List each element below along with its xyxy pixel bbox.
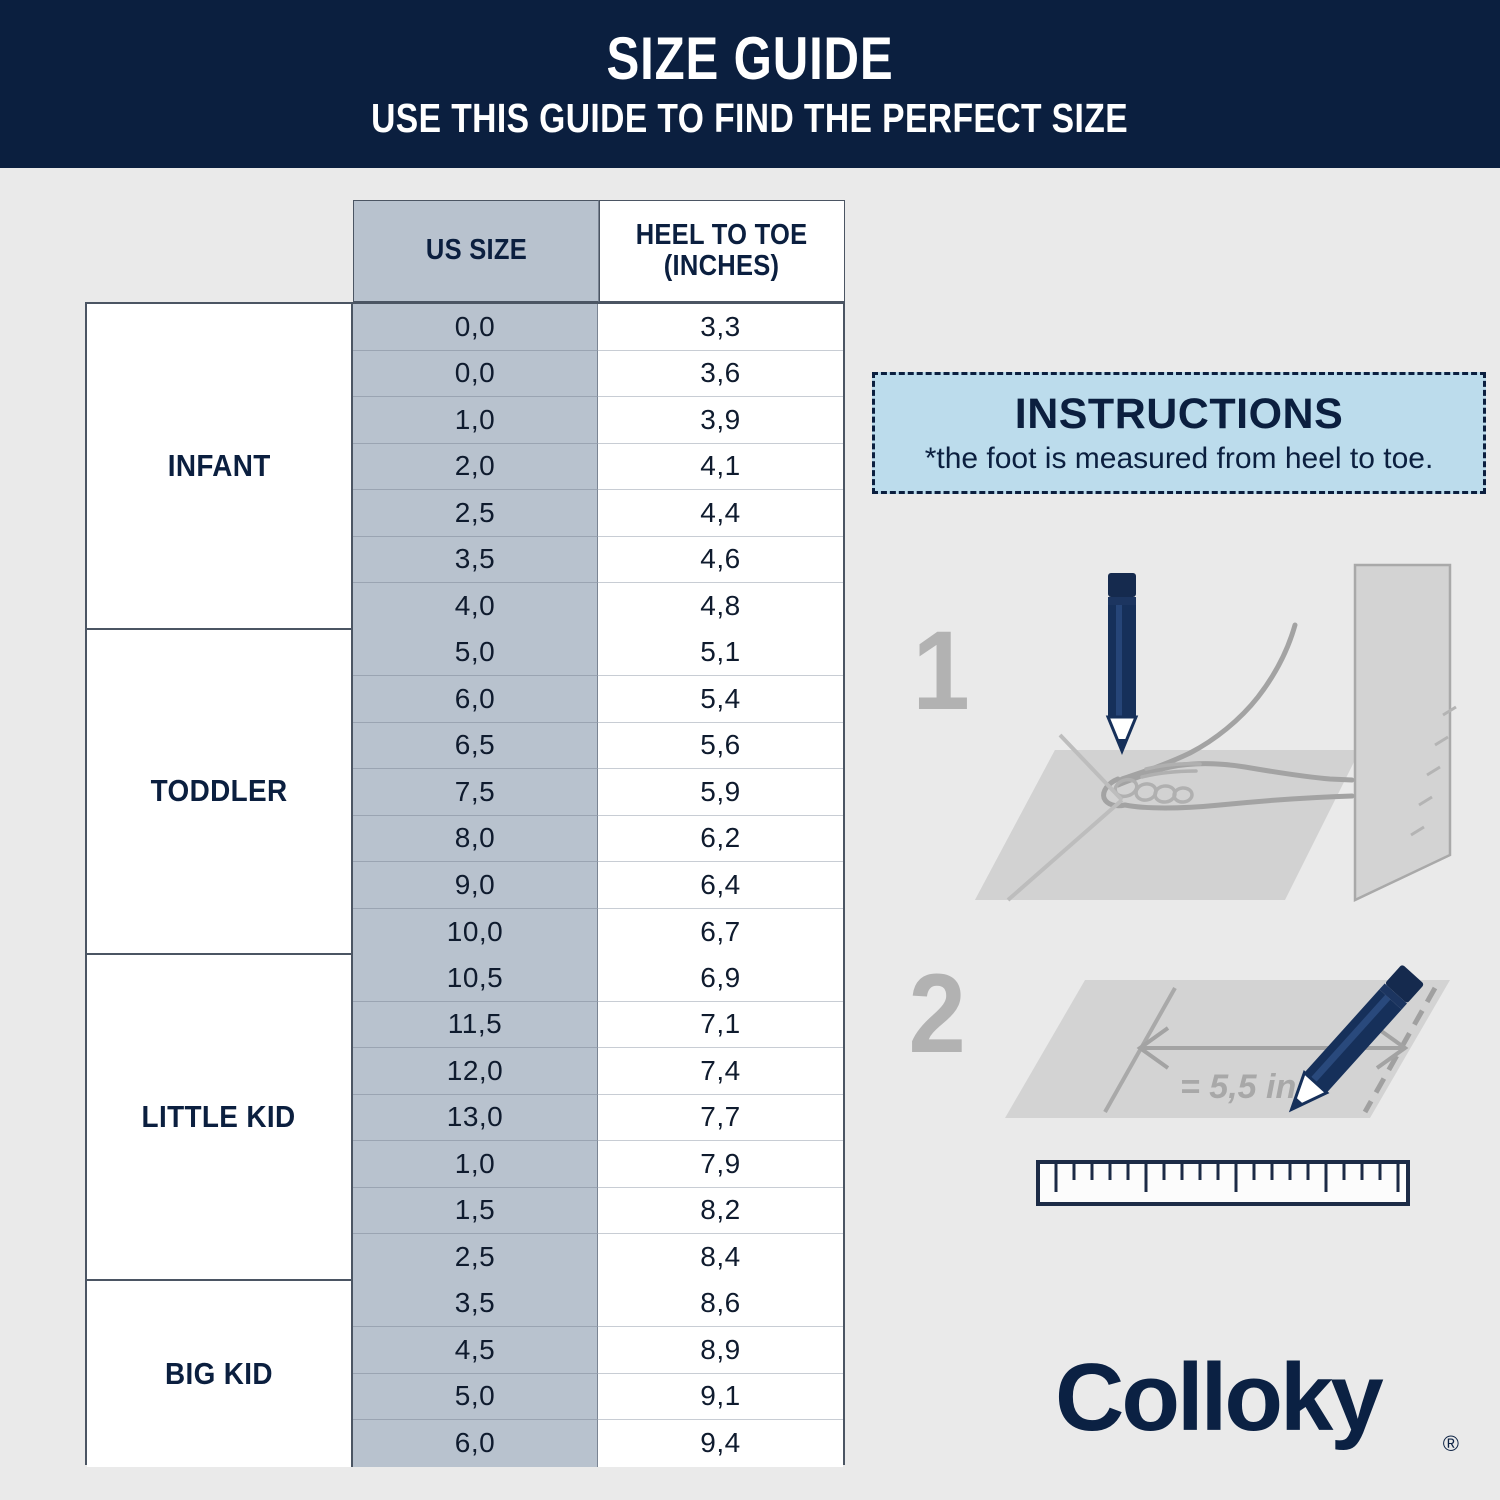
cell-heel-to-toe: 7,4 bbox=[598, 1048, 843, 1095]
cell-heel-to-toe: 5,1 bbox=[598, 630, 843, 677]
group-label-text: TODDLER bbox=[151, 773, 288, 809]
brand-logo: Colloky ® bbox=[1055, 1345, 1455, 1465]
table-group: INFANT0,03,30,03,61,03,92,04,12,54,43,54… bbox=[87, 304, 843, 630]
brand-logo-text: Colloky bbox=[1055, 1345, 1381, 1451]
wall-plane-icon bbox=[1355, 565, 1450, 900]
table-row: 10,56,9 bbox=[353, 955, 843, 1002]
ruler-icon bbox=[1038, 1162, 1408, 1204]
table-row: 4,58,9 bbox=[353, 1327, 843, 1374]
cell-us-size: 0,0 bbox=[353, 304, 598, 351]
group-label-text: LITTLE KID bbox=[142, 1099, 296, 1135]
registered-trademark-icon: ® bbox=[1443, 1433, 1459, 1455]
cell-heel-to-toe: 4,8 bbox=[598, 583, 843, 630]
cell-us-size: 5,0 bbox=[353, 630, 598, 677]
instructions-title: INSTRUCTIONS bbox=[1015, 393, 1344, 436]
cell-heel-to-toe: 3,3 bbox=[598, 304, 843, 351]
cell-us-size: 5,0 bbox=[353, 1374, 598, 1421]
group-label-little-kid: LITTLE KID bbox=[87, 955, 353, 1279]
cell-us-size: 4,5 bbox=[353, 1327, 598, 1374]
column-header-heel-line2: (INCHES) bbox=[664, 250, 780, 282]
instructions-note: *the foot is measured from heel to toe. bbox=[925, 444, 1434, 474]
cell-heel-to-toe: 7,1 bbox=[598, 1002, 843, 1049]
page-header: SIZE GUIDE USE THIS GUIDE TO FIND THE PE… bbox=[0, 0, 1500, 168]
cell-us-size: 11,5 bbox=[353, 1002, 598, 1049]
group-label-infant: INFANT bbox=[87, 304, 353, 628]
table-row: 13,07,7 bbox=[353, 1095, 843, 1142]
page-title: SIZE GUIDE bbox=[606, 28, 893, 89]
table-row: 12,07,4 bbox=[353, 1048, 843, 1095]
group-rows: 10,56,911,57,112,07,413,07,71,07,91,58,2… bbox=[353, 955, 843, 1279]
table-row: 3,54,6 bbox=[353, 537, 843, 584]
column-header-heel-to-toe: HEEL TO TOE (INCHES) bbox=[599, 200, 845, 302]
size-guide-page: SIZE GUIDE USE THIS GUIDE TO FIND THE PE… bbox=[0, 0, 1500, 1500]
cell-heel-to-toe: 6,4 bbox=[598, 862, 843, 909]
size-table: US SIZE HEEL TO TOE (INCHES) INFANT0,03,… bbox=[85, 200, 845, 1465]
table-row: 9,06,4 bbox=[353, 862, 843, 909]
page-subtitle: USE THIS GUIDE TO FIND THE PERFECT SIZE bbox=[372, 97, 1129, 140]
step-2-number: 2 bbox=[908, 958, 965, 1070]
column-header-heel-line1: HEEL TO TOE bbox=[636, 219, 808, 251]
step-2-illustration: 2 = 5,5 in bbox=[890, 940, 1490, 1240]
step-2-drawing: = 5,5 in bbox=[890, 940, 1490, 1240]
table-row: 2,58,4 bbox=[353, 1234, 843, 1281]
cell-us-size: 9,0 bbox=[353, 862, 598, 909]
measurement-label: = 5,5 in bbox=[1180, 1068, 1296, 1106]
group-rows: 3,58,64,58,95,09,16,09,4 bbox=[353, 1281, 843, 1467]
instructions-box: INSTRUCTIONS *the foot is measured from … bbox=[872, 372, 1486, 494]
cell-us-size: 7,5 bbox=[353, 769, 598, 816]
group-label-text: BIG KID bbox=[165, 1356, 273, 1392]
cell-us-size: 2,0 bbox=[353, 444, 598, 491]
table-row: 2,54,4 bbox=[353, 490, 843, 537]
table-row: 0,03,6 bbox=[353, 351, 843, 398]
table-group: LITTLE KID10,56,911,57,112,07,413,07,71,… bbox=[87, 955, 843, 1281]
cell-heel-to-toe: 5,4 bbox=[598, 676, 843, 723]
table-row: 6,09,4 bbox=[353, 1420, 843, 1467]
cell-us-size: 6,5 bbox=[353, 723, 598, 770]
cell-us-size: 1,5 bbox=[353, 1188, 598, 1235]
cell-heel-to-toe: 6,9 bbox=[598, 955, 843, 1002]
cell-us-size: 6,0 bbox=[353, 676, 598, 723]
cell-us-size: 8,0 bbox=[353, 816, 598, 863]
cell-heel-to-toe: 4,1 bbox=[598, 444, 843, 491]
pencil-icon bbox=[1108, 573, 1136, 751]
cell-heel-to-toe: 6,2 bbox=[598, 816, 843, 863]
cell-heel-to-toe: 9,1 bbox=[598, 1374, 843, 1421]
cell-heel-to-toe: 3,6 bbox=[598, 351, 843, 398]
group-label-text: INFANT bbox=[168, 448, 271, 484]
cell-us-size: 1,0 bbox=[353, 1141, 598, 1188]
cell-us-size: 10,0 bbox=[353, 909, 598, 956]
table-row: 1,07,9 bbox=[353, 1141, 843, 1188]
cell-us-size: 10,5 bbox=[353, 955, 598, 1002]
cell-us-size: 4,0 bbox=[353, 583, 598, 630]
table-row: 5,05,1 bbox=[353, 630, 843, 677]
table-row: 1,03,9 bbox=[353, 397, 843, 444]
step-1-drawing bbox=[890, 555, 1490, 915]
table-row: 0,03,3 bbox=[353, 304, 843, 351]
cell-heel-to-toe: 8,9 bbox=[598, 1327, 843, 1374]
table-group: TODDLER5,05,16,05,46,55,67,55,98,06,29,0… bbox=[87, 630, 843, 956]
step-1-illustration: 1 bbox=[890, 555, 1490, 915]
table-row: 2,04,1 bbox=[353, 444, 843, 491]
cell-us-size: 13,0 bbox=[353, 1095, 598, 1142]
group-label-toddler: TODDLER bbox=[87, 630, 353, 954]
cell-us-size: 6,0 bbox=[353, 1420, 598, 1467]
group-rows: 5,05,16,05,46,55,67,55,98,06,29,06,410,0… bbox=[353, 630, 843, 954]
cell-us-size: 3,5 bbox=[353, 1281, 598, 1328]
column-header-us-size: US SIZE bbox=[353, 200, 599, 302]
step-1-number: 1 bbox=[912, 615, 969, 727]
cell-heel-to-toe: 7,7 bbox=[598, 1095, 843, 1142]
cell-us-size: 1,0 bbox=[353, 397, 598, 444]
cell-heel-to-toe: 5,6 bbox=[598, 723, 843, 770]
cell-heel-to-toe: 8,6 bbox=[598, 1281, 843, 1328]
table-group: BIG KID3,58,64,58,95,09,16,09,4 bbox=[87, 1281, 843, 1467]
cell-us-size: 3,5 bbox=[353, 537, 598, 584]
table-row: 6,55,6 bbox=[353, 723, 843, 770]
cell-heel-to-toe: 6,7 bbox=[598, 909, 843, 956]
table-row: 5,09,1 bbox=[353, 1374, 843, 1421]
cell-us-size: 12,0 bbox=[353, 1048, 598, 1095]
cell-heel-to-toe: 4,6 bbox=[598, 537, 843, 584]
cell-us-size: 0,0 bbox=[353, 351, 598, 398]
cell-heel-to-toe: 8,2 bbox=[598, 1188, 843, 1235]
cell-heel-to-toe: 9,4 bbox=[598, 1420, 843, 1467]
table-row: 8,06,2 bbox=[353, 816, 843, 863]
cell-heel-to-toe: 7,9 bbox=[598, 1141, 843, 1188]
cell-us-size: 2,5 bbox=[353, 490, 598, 537]
table-row: 10,06,7 bbox=[353, 909, 843, 956]
cell-heel-to-toe: 3,9 bbox=[598, 397, 843, 444]
group-rows: 0,03,30,03,61,03,92,04,12,54,43,54,64,04… bbox=[353, 304, 843, 628]
cell-heel-to-toe: 5,9 bbox=[598, 769, 843, 816]
table-row: 6,05,4 bbox=[353, 676, 843, 723]
table-row: 7,55,9 bbox=[353, 769, 843, 816]
cell-heel-to-toe: 8,4 bbox=[598, 1234, 843, 1281]
table-header-row: US SIZE HEEL TO TOE (INCHES) bbox=[353, 200, 845, 302]
cell-us-size: 2,5 bbox=[353, 1234, 598, 1281]
table-body: INFANT0,03,30,03,61,03,92,04,12,54,43,54… bbox=[85, 302, 845, 1465]
table-row: 4,04,8 bbox=[353, 583, 843, 630]
table-row: 11,57,1 bbox=[353, 1002, 843, 1049]
cell-heel-to-toe: 4,4 bbox=[598, 490, 843, 537]
table-row: 3,58,6 bbox=[353, 1281, 843, 1328]
group-label-big-kid: BIG KID bbox=[87, 1281, 353, 1467]
table-row: 1,58,2 bbox=[353, 1188, 843, 1235]
